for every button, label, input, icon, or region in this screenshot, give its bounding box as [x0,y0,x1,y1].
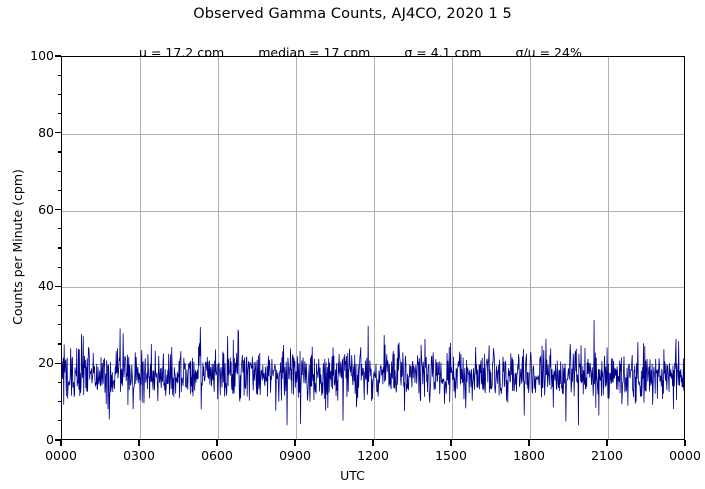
x-tick-label: 1500 [435,449,467,463]
chart-title: Observed Gamma Counts, AJ4CO, 2020 1 5 [0,5,705,23]
y-tick-mark-minor [58,75,62,76]
y-tick-mark-minor [58,228,62,229]
y-tick-mark-minor [58,171,62,172]
y-tick-mark-minor [58,401,62,402]
plot-area [61,56,685,440]
y-tick-label: 60 [38,203,54,216]
y-tick-mark-minor [58,343,62,344]
data-trace-gamma-counts [62,57,685,440]
y-tick-mark [55,55,61,56]
y-tick-mark-minor [58,94,62,95]
x-tick-mark [294,440,295,446]
series-polyline [62,320,685,425]
y-tick-label: 20 [38,356,54,369]
x-axis-label: UTC [0,468,705,483]
x-tick-label: 0000 [45,449,77,463]
y-tick-label: 100 [30,49,54,62]
x-tick-mark [60,440,61,446]
y-tick-mark-minor [58,190,62,191]
x-tick-label: 2100 [591,449,623,463]
x-tick-mark [606,440,607,446]
y-tick-mark [55,209,61,210]
y-tick-mark-minor [58,151,62,152]
x-tick-mark [372,440,373,446]
x-tick-label: 1200 [357,449,389,463]
x-tick-mark [138,440,139,446]
x-tick-mark [684,440,685,446]
x-tick-label: 0000 [669,449,701,463]
x-tick-label: 0900 [279,449,311,463]
y-axis-label: Counts per Minute (cpm) [11,137,25,357]
y-tick-mark-minor [58,247,62,248]
y-tick-label: 40 [38,279,54,292]
y-tick-mark-minor [58,305,62,306]
y-tick-mark-minor [58,324,62,325]
x-tick-mark [216,440,217,446]
gamma-counts-chart-figure: Observed Gamma Counts, AJ4CO, 2020 1 5 μ… [0,0,705,489]
x-tick-mark [528,440,529,446]
y-tick-mark [55,286,61,287]
y-tick-mark [55,132,61,133]
y-tick-mark-minor [58,267,62,268]
y-tick-label: 80 [38,126,54,139]
y-tick-label: 0 [46,433,54,446]
x-tick-label: 0300 [123,449,155,463]
x-tick-label: 0600 [201,449,233,463]
x-tick-label: 1800 [513,449,545,463]
y-tick-mark-minor [58,420,62,421]
y-tick-mark [55,363,61,364]
y-tick-mark-minor [58,382,62,383]
x-tick-mark [450,440,451,446]
y-tick-mark-minor [58,113,62,114]
